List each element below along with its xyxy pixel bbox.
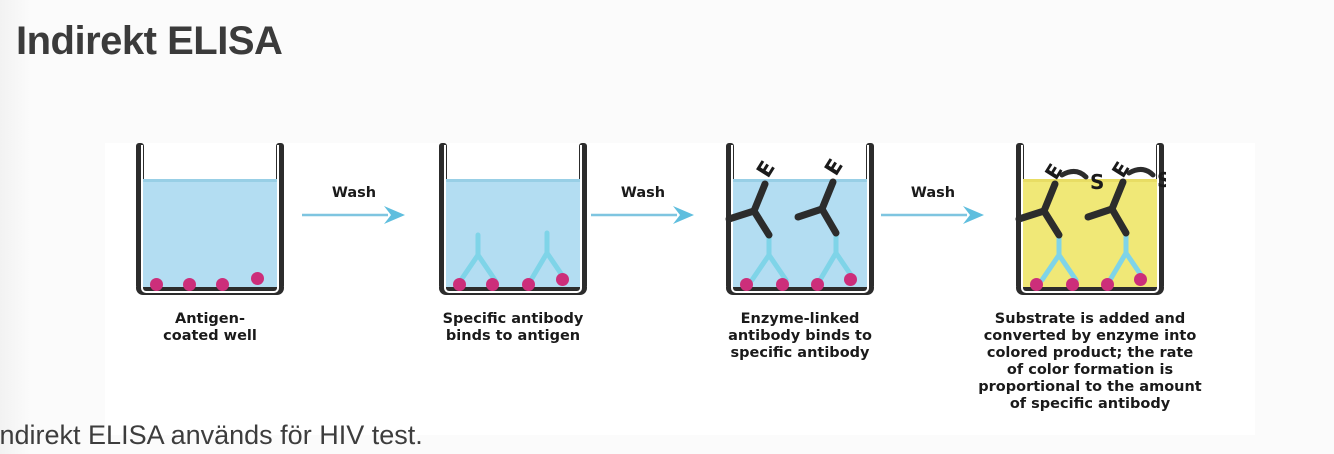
well-1 xyxy=(134,143,286,301)
antigen-dot xyxy=(1134,273,1147,286)
antigen-dot xyxy=(251,272,264,285)
arrow-right-icon xyxy=(591,204,695,226)
elisa-step-2: Specific antibody binds to antigen xyxy=(408,143,618,345)
antigen-dot xyxy=(811,278,824,291)
wash-step-2: Wash xyxy=(587,185,699,226)
well-4: E S E S xyxy=(1014,143,1166,301)
antigen-dot xyxy=(453,278,466,291)
antigen-dot xyxy=(150,278,163,291)
elisa-step-3: E E Enzyme-linked antibody binds to spec… xyxy=(695,143,905,362)
antigen-dot xyxy=(216,278,229,291)
wash-step-3: Wash xyxy=(877,185,989,226)
well-3: E E xyxy=(724,143,876,301)
liquid-surface xyxy=(1023,179,1157,182)
antigen-dot xyxy=(844,273,857,286)
arrow-right-icon xyxy=(881,204,985,226)
page-title: Indirekt ELISA xyxy=(16,19,282,64)
antigen-dot xyxy=(1030,278,1043,291)
step-caption: Substrate is added and converted by enzy… xyxy=(965,311,1215,413)
slide-body-text: Indirekt ELISA används för HIV test. xyxy=(0,420,423,451)
well-vessel xyxy=(437,143,589,295)
step-caption: Specific antibody binds to antigen xyxy=(408,311,618,345)
elisa-step-4: E S E S Substrate is added and converted… xyxy=(985,143,1195,413)
elisa-diagram-figure: Antigen- coated well Wash xyxy=(105,143,1255,435)
antigen-dot xyxy=(740,278,753,291)
wash-step-1: Wash xyxy=(298,185,410,226)
wash-label: Wash xyxy=(298,185,410,201)
liquid-fill xyxy=(1023,179,1157,287)
liquid-surface xyxy=(446,179,580,182)
wash-label: Wash xyxy=(587,185,699,201)
antigen-dot xyxy=(522,278,535,291)
antigen-dot xyxy=(556,273,569,286)
antigen-dot xyxy=(486,278,499,291)
liquid-surface xyxy=(733,179,867,182)
step-caption: Enzyme-linked antibody binds to specific… xyxy=(695,311,905,362)
antigen-dot xyxy=(1101,278,1114,291)
liquid-fill xyxy=(733,179,867,287)
well-vessel: E S E S xyxy=(1014,143,1166,295)
liquid-surface xyxy=(143,179,277,182)
antigen-dot xyxy=(1066,278,1079,291)
step-caption: Antigen- coated well xyxy=(105,311,315,345)
arrow-right-icon xyxy=(302,204,406,226)
well-vessel xyxy=(134,143,286,295)
well-2 xyxy=(437,143,589,301)
well-vessel: E E xyxy=(724,143,876,295)
wash-label: Wash xyxy=(877,185,989,201)
liquid-fill xyxy=(143,179,277,287)
liquid-fill xyxy=(446,179,580,287)
antigen-dot xyxy=(183,278,196,291)
elisa-step-1: Antigen- coated well xyxy=(105,143,315,345)
antigen-dot xyxy=(776,278,789,291)
